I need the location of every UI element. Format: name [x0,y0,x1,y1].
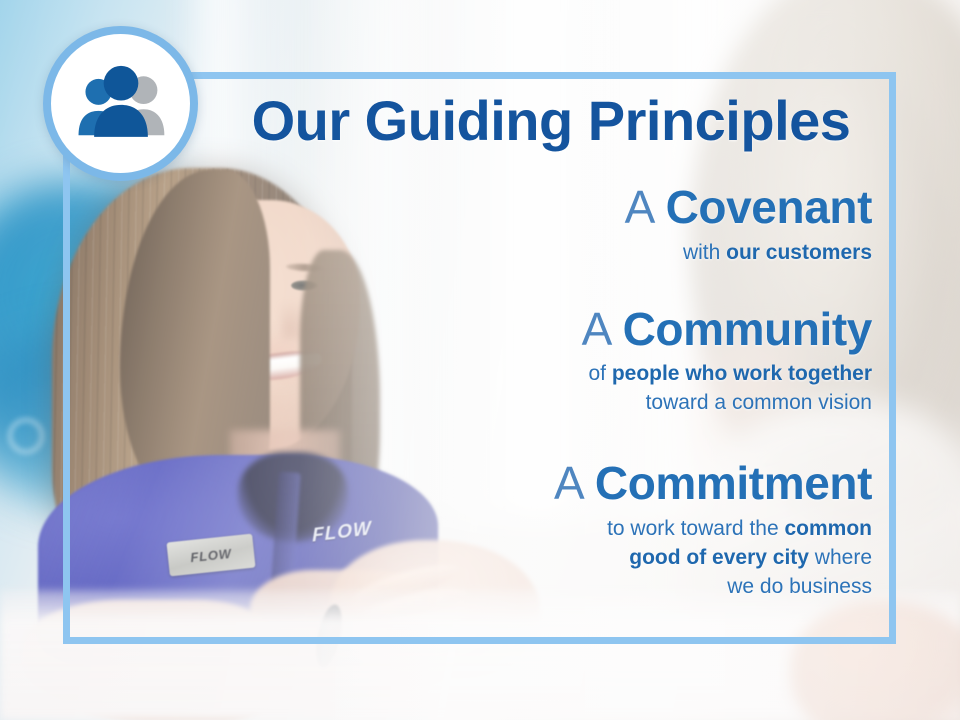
principle-subtext-line: of people who work together [300,360,872,389]
subtext-plain: of [588,362,611,385]
subtext-plain: toward a common vision [646,391,872,414]
principle-item: A Commitment to work toward the commongo… [300,458,872,602]
principle-article: A [582,303,610,355]
banner-graphic: FLOW FLOW O [0,0,960,720]
principle-subtext-line: toward a common vision [300,389,872,418]
principle-heading: A Community [300,304,872,355]
principle-article: A [625,181,653,233]
subtext-plain: we do business [727,575,872,598]
principle-item: A Community of people who work togethert… [300,304,872,419]
subtext-plain: where [809,546,872,569]
principle-word: Commitment [595,457,872,509]
car-emblem [8,418,44,454]
principle-subtext-line: we do business [300,573,872,602]
subtext-emphasis: good of every city [629,546,809,569]
principle-heading: A Commitment [300,458,872,509]
subtext-plain: to work toward the [607,517,784,540]
people-group-badge [43,26,198,181]
principle-word: Covenant [666,181,872,233]
principle-subtext-line: to work toward the common [300,515,872,544]
people-group-icon [69,52,173,156]
principles-list: A Covenant with our customers A Communit… [300,182,872,606]
principle-subtext: to work toward the commongood of every c… [300,515,872,602]
principle-article: A [554,457,582,509]
principle-subtext: of people who work togethertoward a comm… [300,360,872,418]
principle-subtext: with our customers [300,239,872,268]
principle-item: A Covenant with our customers [300,182,872,268]
page-title: Our Guiding Principles [215,92,887,149]
principle-subtext-line: with our customers [300,239,872,268]
principle-subtext-line: good of every city where [300,544,872,573]
name-badge-flow-logo: FLOW [190,546,233,563]
subtext-emphasis: people who work together [612,362,872,385]
subtext-plain: with [683,241,726,264]
subtext-emphasis: our customers [726,241,872,264]
principle-heading: A Covenant [300,182,872,233]
subtext-emphasis: common [784,517,872,540]
principle-word: Community [623,303,872,355]
